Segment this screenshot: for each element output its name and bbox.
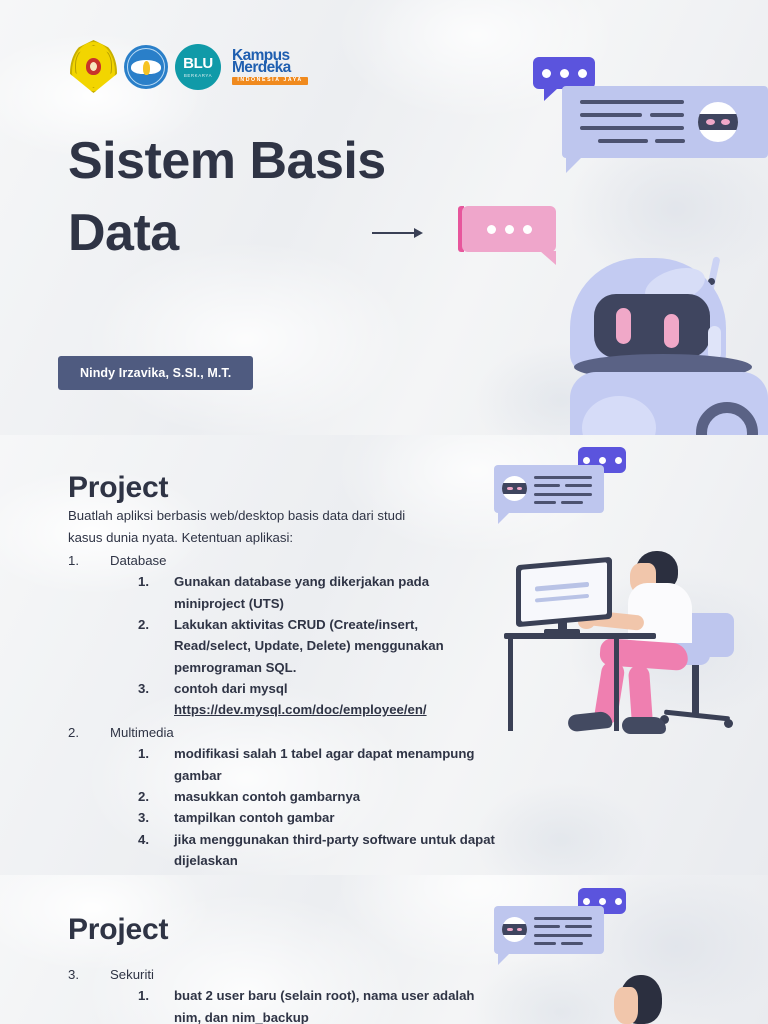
- message-line: [580, 113, 642, 117]
- outline-section-database: 1. Database 1. Gunakan database yang dik…: [68, 550, 498, 721]
- project-outline: 1. Database 1. Gunakan database yang dik…: [68, 550, 498, 872]
- universitas-seal-logo: [70, 40, 117, 93]
- kampus-merdeka-tagline: INDONESIA JAYA: [232, 77, 308, 85]
- project-outline: 3. Sekuriti 1. buat 2 user baru (selain …: [68, 964, 498, 1024]
- purple-bubble-tail: [544, 88, 558, 101]
- author-badge: Nindy Irzavika, S.SI., M.T.: [58, 356, 253, 390]
- message-card: [494, 465, 604, 513]
- section-label: Multimedia: [110, 725, 174, 740]
- bubble-dot: [560, 69, 569, 78]
- intro-line-1: Buatlah apliksi berbasis web/desktop bas…: [68, 505, 498, 526]
- monitor-frame: [516, 557, 612, 627]
- monitor-screen: [521, 562, 607, 622]
- page-title: Project: [68, 913, 168, 947]
- section-label: Database: [110, 553, 166, 568]
- purple-chat-bubble: [533, 57, 595, 89]
- item-number: 3.: [138, 678, 164, 699]
- blu-logo-subtext: BERKARYA: [184, 73, 212, 78]
- bubble-dot: [505, 225, 514, 234]
- bubble-dot: [487, 225, 496, 234]
- bubble-dot: [599, 898, 606, 905]
- message-line: [534, 942, 556, 945]
- message-line: [534, 476, 592, 479]
- robot-eye-left: [616, 308, 631, 344]
- message-line: [580, 100, 684, 104]
- blu-logo: BLU BERKARYA: [175, 44, 221, 90]
- message-line: [534, 917, 592, 920]
- list-item: 2. masukkan contoh gambarnya: [138, 786, 498, 807]
- item-number: 2.: [138, 614, 164, 635]
- message-line: [565, 925, 592, 928]
- list-item: 2. Lakukan aktivitas CRUD (Create/insert…: [138, 614, 498, 678]
- chair-caster: [724, 719, 733, 728]
- desk-top: [504, 633, 656, 639]
- outline-section-multimedia: 2. Multimedia 1. modifikasi salah 1 tabe…: [68, 722, 498, 872]
- outline-section-sekuriti: 3. Sekuriti 1. buat 2 user baru (selain …: [68, 964, 498, 1024]
- screen-line: [535, 582, 589, 592]
- sekuriti-items: 1. buat 2 user baru (selain root), nama …: [110, 985, 498, 1024]
- database-items: 1. Gunakan database yang dikerjakan pada…: [110, 571, 498, 721]
- list-item: 1. buat 2 user baru (selain root), nama …: [138, 985, 498, 1024]
- item-number: 3.: [138, 807, 164, 828]
- item-text: tampilkan contoh gambar: [174, 810, 334, 825]
- list-item: 3. contoh dari mysql https://dev.mysql.c…: [138, 678, 498, 721]
- message-line: [534, 501, 556, 504]
- message-card: [562, 86, 768, 158]
- item-text: jika menggunakan third-party software un…: [174, 832, 495, 868]
- section-number: 3.: [68, 964, 94, 985]
- bubble-dot: [583, 898, 590, 905]
- workstation-illustration: [496, 515, 768, 755]
- mysql-doc-link[interactable]: https://dev.mysql.com/doc/employee/en/: [174, 702, 427, 717]
- message-line: [598, 139, 648, 143]
- message-line: [561, 942, 583, 945]
- section-number: 2.: [68, 722, 94, 743]
- person-face: [614, 987, 638, 1024]
- hero-title: Sistem Basis Data: [68, 126, 428, 270]
- bubble-dot: [583, 457, 590, 464]
- person-shoe-front: [567, 711, 613, 733]
- project-content: Buatlah apliksi berbasis web/desktop bas…: [68, 505, 498, 871]
- item-text: Gunakan database yang dikerjakan pada mi…: [174, 574, 429, 610]
- blu-logo-text: BLU: [183, 56, 213, 71]
- message-card: [494, 906, 604, 954]
- message-line: [534, 934, 592, 937]
- message-line: [534, 484, 560, 487]
- desk-leg-right: [614, 637, 619, 731]
- intro-line-2: kasus dunia nyata. Ketentuan aplikasi:: [68, 527, 498, 548]
- bubble-dot: [578, 69, 587, 78]
- robot-avatar-icon: [502, 476, 527, 501]
- bubble-dot: [615, 457, 622, 464]
- message-card-tail: [498, 953, 510, 965]
- slide-project-1: Project Buatlah apliksi berbasis web/des…: [0, 435, 768, 875]
- desk-leg-left: [508, 637, 513, 731]
- section-label: Sekuriti: [110, 967, 154, 982]
- item-text: masukkan contoh gambarnya: [174, 789, 360, 804]
- slide-project-2: Project 3. Sekuriti 1. buat 2 user baru …: [0, 875, 768, 1024]
- robot-ear: [708, 326, 721, 360]
- item-number: 2.: [138, 786, 164, 807]
- message-line: [655, 139, 685, 143]
- message-line: [580, 126, 684, 130]
- arrow-icon: [372, 232, 418, 234]
- item-text: contoh dari mysql: [174, 681, 288, 696]
- item-text: Lakukan aktivitas CRUD (Create/insert, R…: [174, 617, 444, 675]
- kampus-merdeka-line2: Merdeka: [232, 60, 308, 76]
- robot-illustration: [556, 246, 768, 435]
- section-number: 1.: [68, 550, 94, 571]
- multimedia-items: 1. modifikasi salah 1 tabel agar dapat m…: [110, 743, 498, 871]
- list-item: 4. jika menggunakan third-party software…: [138, 829, 498, 872]
- item-text: buat 2 user baru (selain root), nama use…: [174, 988, 474, 1024]
- message-line: [561, 501, 583, 504]
- bubble-dot: [615, 898, 622, 905]
- robot-avatar-icon: [698, 102, 738, 142]
- page-title: Project: [68, 471, 168, 505]
- message-line: [534, 493, 592, 496]
- message-line: [650, 113, 684, 117]
- project-content: 3. Sekuriti 1. buat 2 user baru (selain …: [68, 963, 498, 1024]
- message-card-tail: [566, 157, 582, 173]
- kampus-merdeka-logo: Kampus Merdeka INDONESIA JAYA: [232, 48, 308, 85]
- item-number: 1.: [138, 743, 164, 764]
- list-item: 1. modifikasi salah 1 tabel agar dapat m…: [138, 743, 498, 786]
- robot-avatar-icon: [502, 917, 527, 942]
- bubble-dot: [542, 69, 551, 78]
- robot-visor: [594, 294, 710, 358]
- message-line: [534, 925, 560, 928]
- pink-bubble-tail: [540, 251, 556, 265]
- slide-hero: BLU BERKARYA Kampus Merdeka INDONESIA JA…: [0, 0, 768, 435]
- presentation-page: BLU BERKARYA Kampus Merdeka INDONESIA JA…: [0, 0, 768, 1024]
- list-item: 3. tampilkan contoh gambar: [138, 807, 498, 828]
- robot-eye-right: [664, 314, 679, 348]
- item-number: 4.: [138, 829, 164, 850]
- screen-line: [535, 594, 589, 603]
- logo-row: BLU BERKARYA Kampus Merdeka INDONESIA JA…: [70, 40, 308, 93]
- list-item: 1. Gunakan database yang dikerjakan pada…: [138, 571, 498, 614]
- message-line: [565, 484, 592, 487]
- pink-chat-bubble: [462, 206, 556, 252]
- bubble-dot: [523, 225, 532, 234]
- tut-wuri-handayani-logo: [124, 45, 168, 89]
- person-shoe-back: [622, 717, 666, 734]
- arrow-head-icon: [414, 228, 423, 238]
- item-number: 1.: [138, 571, 164, 592]
- item-text: modifikasi salah 1 tabel agar dapat mena…: [174, 746, 474, 782]
- bubble-dot: [599, 457, 606, 464]
- item-number: 1.: [138, 985, 164, 1006]
